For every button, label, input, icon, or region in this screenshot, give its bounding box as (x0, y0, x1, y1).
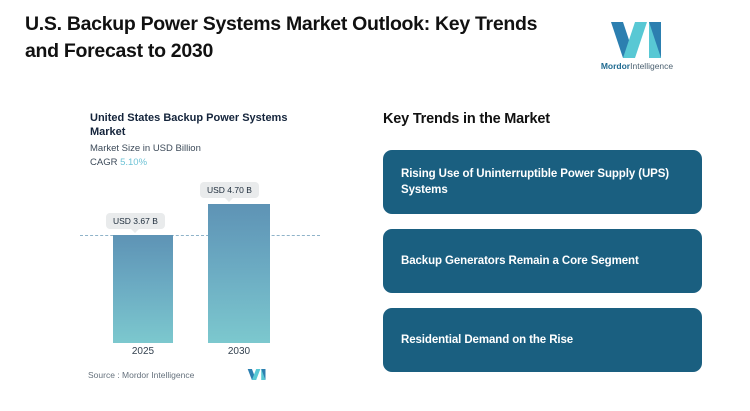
chart-subtitle: Market Size in USD Billion (90, 143, 201, 155)
mordor-logo-mark (590, 20, 684, 60)
trend-card-ups[interactable]: Rising Use of Uninterruptible Power Supp… (383, 150, 702, 214)
trend-card-label: Rising Use of Uninterruptible Power Supp… (401, 166, 684, 198)
logo-word-intelligence: Intelligence (630, 61, 673, 71)
bar-label-2030: USD 4.70 B (200, 182, 259, 198)
trend-card-generators[interactable]: Backup Generators Remain a Core Segment (383, 229, 702, 293)
cagr-label: CAGR (90, 157, 117, 168)
trend-card-label: Backup Generators Remain a Core Segment (401, 253, 639, 269)
chart-cagr: CAGR 5.10% (90, 157, 147, 169)
x-axis-labels: 2025 2030 (80, 346, 320, 364)
market-size-chart: United States Backup Power Systems Marke… (62, 103, 332, 393)
x-tick-2025: 2025 (113, 346, 173, 357)
trend-card-residential[interactable]: Residential Demand on the Rise (383, 308, 702, 372)
chart-title: United States Backup Power Systems Marke… (90, 111, 295, 139)
logo-word-mordor: Mordor (601, 61, 630, 71)
chart-source-text: Source : Mordor Intelligence (88, 370, 194, 380)
chart-plot-area: USD 3.67 B USD 4.70 B (80, 178, 320, 343)
page-title: U.S. Backup Power Systems Market Outlook… (25, 11, 545, 65)
mordor-logo-wordmark: MordorIntelligence (590, 61, 684, 71)
bar-2030 (208, 204, 270, 343)
mordor-intelligence-logo: MordorIntelligence (590, 20, 684, 76)
trend-card-label: Residential Demand on the Rise (401, 332, 573, 348)
key-trends-panel: Key Trends in the Market Rising Use of U… (383, 103, 713, 393)
bar-label-2025: USD 3.67 B (106, 213, 165, 229)
bar-2025 (113, 235, 173, 343)
cagr-value: 5.10% (120, 157, 147, 168)
chart-source-row: Source : Mordor Intelligence (88, 368, 314, 384)
x-tick-2030: 2030 (208, 346, 270, 357)
mordor-intelligence-mark (246, 368, 268, 381)
key-trends-heading: Key Trends in the Market (383, 111, 550, 127)
page-header: U.S. Backup Power Systems Market Outlook… (0, 0, 750, 95)
